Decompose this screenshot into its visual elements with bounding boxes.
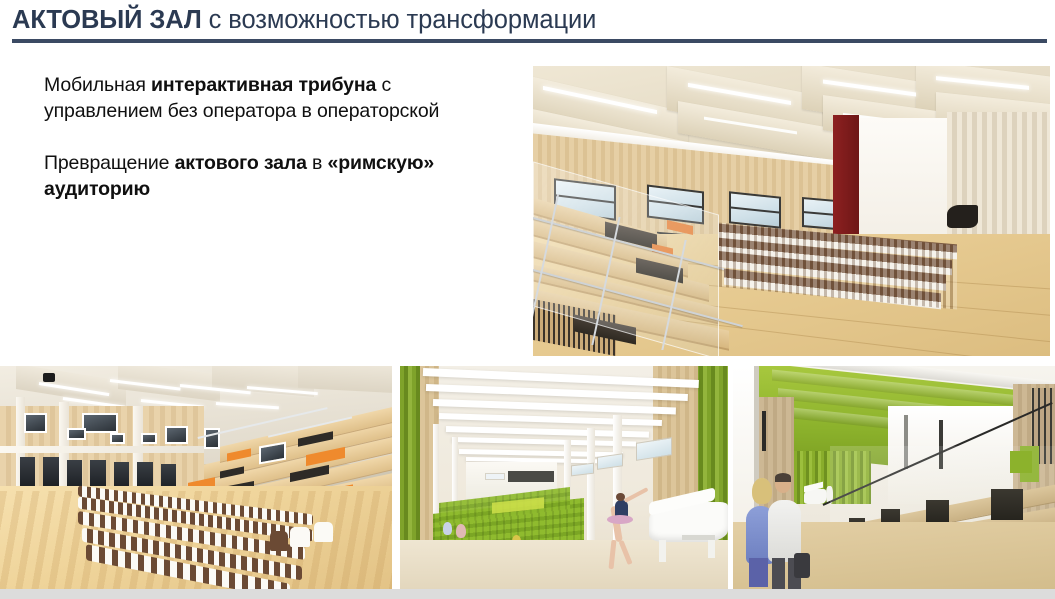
paragraph-1: Мобильная интерактивная трибуна с управл…	[44, 72, 474, 124]
title-underline-rule	[12, 39, 1047, 43]
green-ceiling-foyer-image	[733, 366, 1055, 589]
paragraph-2: Превращение актового зала в «римскую» ау…	[44, 150, 474, 202]
body-copy: Мобильная интерактивная трибуна с управл…	[44, 72, 474, 228]
title-rest: с возможностью трансформации	[202, 6, 597, 34]
p2-part-1: Превращение	[44, 152, 175, 174]
auditorium-stage-image	[533, 66, 1050, 356]
slide: АКТОВЫЙ ЗАЛ с возможностью трансформации…	[0, 0, 1055, 599]
title-strong: АКТОВЫЙ ЗАЛ	[12, 6, 202, 34]
p1-part-1: Мобильная	[44, 74, 151, 96]
p1-part-2: интерактивная трибуна	[151, 74, 376, 96]
p2-part-3: в	[307, 152, 328, 174]
bottom-bar	[0, 589, 1055, 599]
auditorium-orange-tiers-image	[0, 366, 392, 589]
green-hall-dancer-image	[400, 366, 728, 589]
p2-part-2: актового зала	[175, 152, 307, 174]
title-text: АКТОВЫЙ ЗАЛ с возможностью трансформации	[12, 4, 1047, 36]
